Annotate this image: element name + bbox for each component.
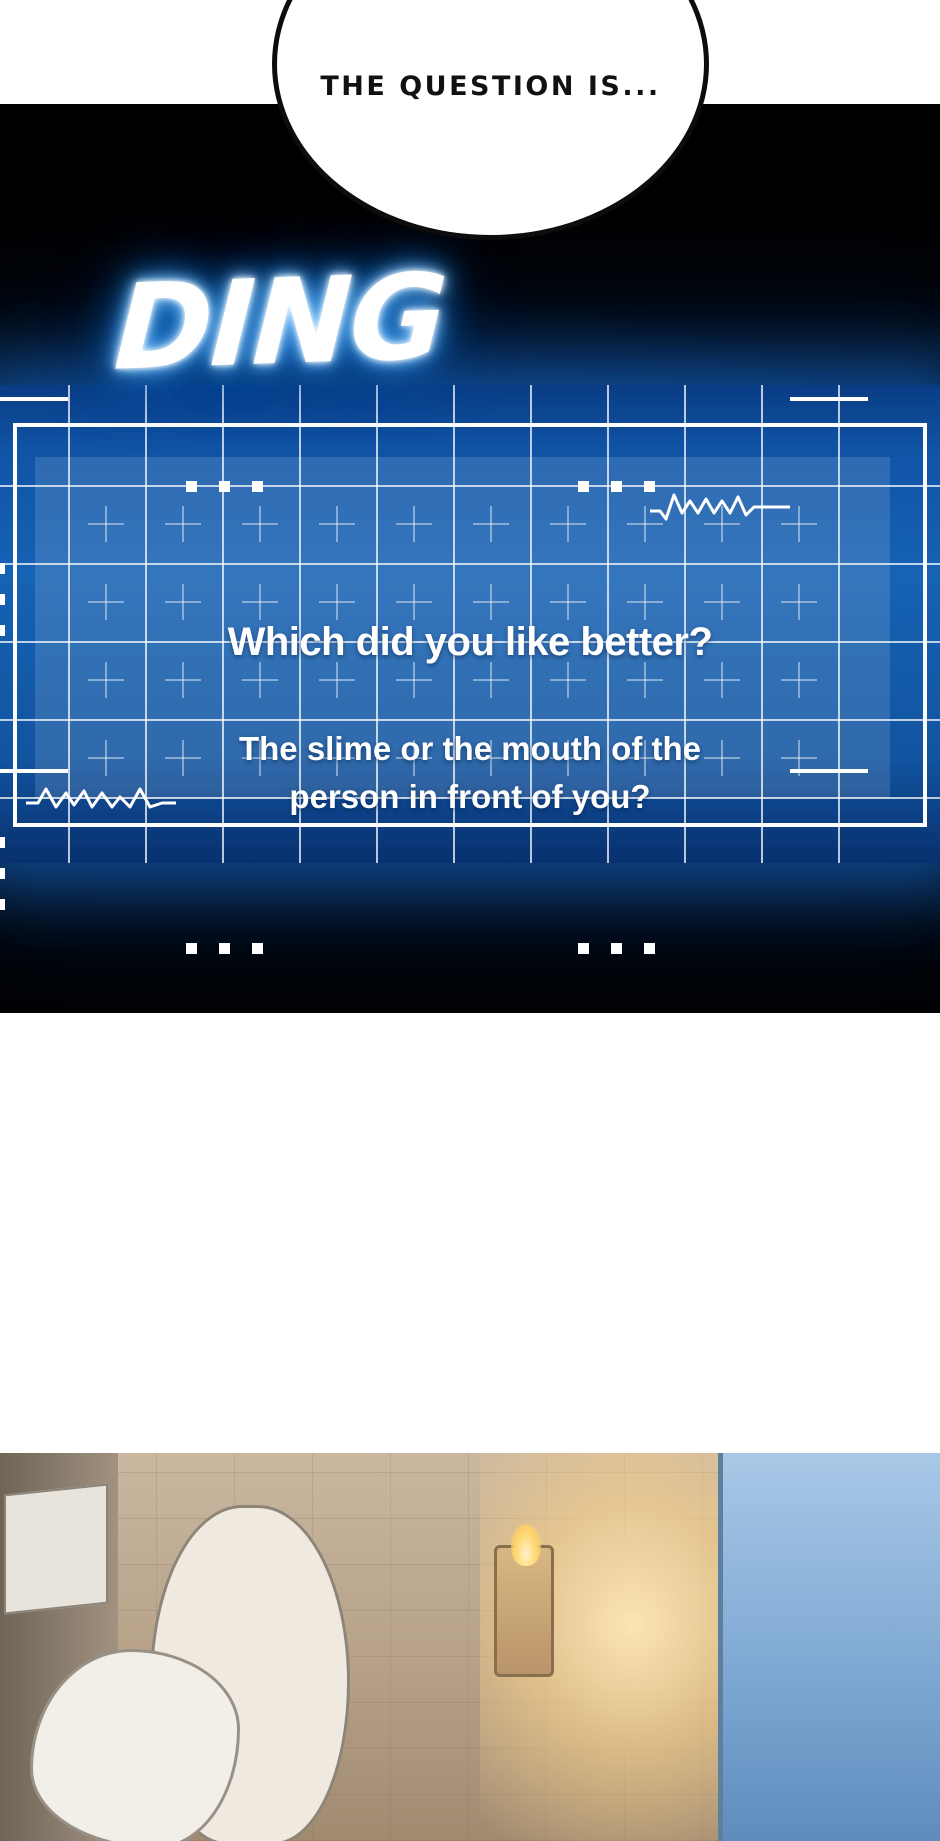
grid-cross bbox=[259, 584, 261, 620]
grid-cross bbox=[336, 584, 338, 620]
system-window-subtitle: The slime or the mouth of the person in … bbox=[0, 725, 940, 821]
dot bbox=[252, 481, 263, 492]
torch-flame-icon bbox=[511, 1524, 541, 1566]
system-window-title: Which did you like better? bbox=[0, 620, 940, 665]
dot-marker-bottom-right bbox=[578, 943, 655, 954]
dot-marker-bottom-left bbox=[186, 943, 263, 954]
grid-line-h bbox=[0, 563, 940, 565]
dot bbox=[0, 563, 5, 574]
grid-cross bbox=[413, 662, 415, 698]
grid-cross bbox=[413, 584, 415, 620]
grid-cross bbox=[105, 662, 107, 698]
grid-cross bbox=[721, 662, 723, 698]
grid-cross bbox=[105, 506, 107, 542]
grid-cross bbox=[644, 584, 646, 620]
dot bbox=[0, 837, 5, 848]
narration-bubble-text: THE QUESTION IS... bbox=[277, 71, 704, 102]
grid-line-h bbox=[0, 719, 940, 721]
grid-cross bbox=[567, 584, 569, 620]
grid-cross bbox=[721, 584, 723, 620]
grid-cross bbox=[490, 506, 492, 542]
dark-comic-panel: DING bbox=[0, 103, 940, 1013]
waveform-top-right bbox=[650, 487, 790, 521]
grid-cross bbox=[182, 506, 184, 542]
ding-sfx-text: DING bbox=[0, 243, 564, 400]
white-gutter-middle bbox=[0, 1013, 940, 1453]
grid-cross bbox=[567, 662, 569, 698]
dot-marker-left-lower bbox=[0, 837, 5, 910]
grid-cross bbox=[798, 662, 800, 698]
dot bbox=[644, 943, 655, 954]
grid-cross bbox=[567, 506, 569, 542]
grid-cross bbox=[644, 662, 646, 698]
left-wall-plaque bbox=[4, 1484, 108, 1615]
dot bbox=[252, 943, 263, 954]
system-window-subtitle-line-2: person in front of you? bbox=[0, 773, 940, 821]
grid-line-h bbox=[0, 485, 940, 487]
stone-room-panel bbox=[0, 1453, 940, 1841]
system-message-window: Which did you like better? The slime or … bbox=[0, 385, 940, 863]
window-frame-bottom bbox=[13, 823, 927, 827]
dot bbox=[611, 481, 622, 492]
torch-sconce bbox=[494, 1545, 554, 1677]
dot bbox=[0, 594, 5, 605]
grid-cross bbox=[490, 662, 492, 698]
grid-cross bbox=[798, 506, 800, 542]
grid-cross bbox=[336, 662, 338, 698]
grid-cross bbox=[644, 506, 646, 542]
grid-cross bbox=[798, 584, 800, 620]
right-blue-wall bbox=[718, 1453, 940, 1841]
dot bbox=[186, 943, 197, 954]
grid-cross bbox=[259, 506, 261, 542]
grid-cross bbox=[413, 506, 415, 542]
dot bbox=[611, 943, 622, 954]
grid-cross bbox=[182, 662, 184, 698]
grid-cross bbox=[336, 506, 338, 542]
system-window-subtitle-line-1: The slime or the mouth of the bbox=[0, 725, 940, 773]
grid-cross bbox=[490, 584, 492, 620]
dot bbox=[578, 481, 589, 492]
grid-cross bbox=[105, 584, 107, 620]
dot-marker-top-right bbox=[578, 481, 655, 492]
grid-cross bbox=[182, 584, 184, 620]
dot bbox=[186, 481, 197, 492]
right-wall-edge bbox=[718, 1453, 723, 1841]
window-frame-top bbox=[13, 423, 927, 427]
dot bbox=[578, 943, 589, 954]
grid-cross bbox=[259, 662, 261, 698]
dot bbox=[0, 899, 5, 910]
dot bbox=[0, 868, 5, 879]
dot bbox=[219, 943, 230, 954]
dot bbox=[219, 481, 230, 492]
dot-marker-top-left bbox=[186, 481, 263, 492]
